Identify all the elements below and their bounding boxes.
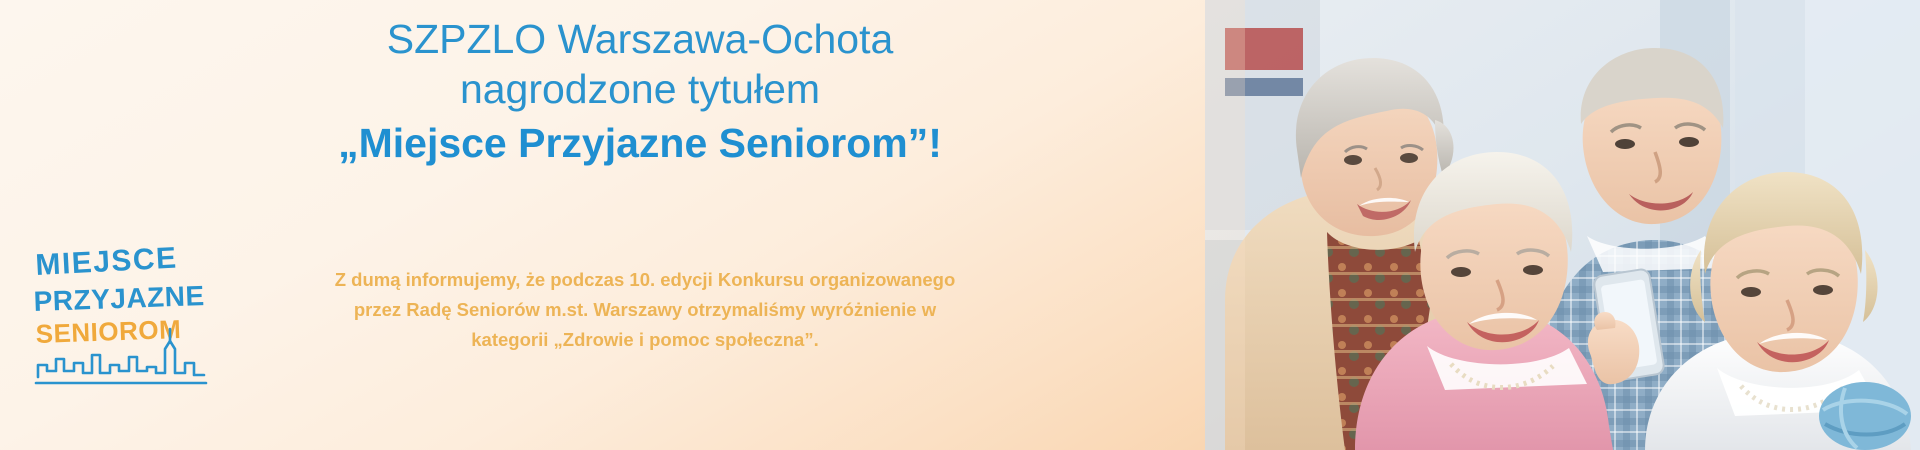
logo-word-seniorom: SENIOROM: [35, 314, 182, 349]
svg-text:MIEJSCE: MIEJSCE: [35, 245, 179, 282]
svg-text:SENIOROM: SENIOROM: [35, 314, 182, 349]
svg-text:PRZYJAZNE: PRZYJAZNE: [34, 280, 205, 317]
body-paragraph: Z dumą informujemy, że podczas 10. edycj…: [250, 265, 1040, 355]
yarn-ball: [1819, 382, 1911, 450]
logo-word-miejsce: MIEJSCE: [35, 245, 179, 282]
body-line-3: kategorii „Zdrowie i pomoc społeczna”.: [250, 325, 1040, 355]
headline-block: SZPZLO Warszawa-Ochota nagrodzone tytułe…: [250, 14, 1030, 169]
seniors-photo: [1205, 0, 1920, 450]
text-panel: SZPZLO Warszawa-Ochota nagrodzone tytułe…: [0, 0, 1205, 450]
body-line-1: Z dumą informujemy, że podczas 10. edycj…: [250, 265, 1040, 295]
miejsce-przyjazne-seniorom-logo: MIEJSCE PRZYJAZNE SENIOROM: [34, 245, 209, 395]
headline-line-3: „Miejsce Przyjazne Seniorom”!: [250, 118, 1030, 169]
headline-line-2: nagrodzone tytułem: [250, 64, 1030, 114]
headline-line-1: SZPZLO Warszawa-Ochota: [250, 14, 1030, 64]
logo-word-przyjazne: PRZYJAZNE: [34, 280, 205, 317]
body-line-2: przez Radę Seniorów m.st. Warszawy otrzy…: [250, 295, 1040, 325]
promo-banner: SZPZLO Warszawa-Ochota nagrodzone tytułe…: [0, 0, 1920, 450]
